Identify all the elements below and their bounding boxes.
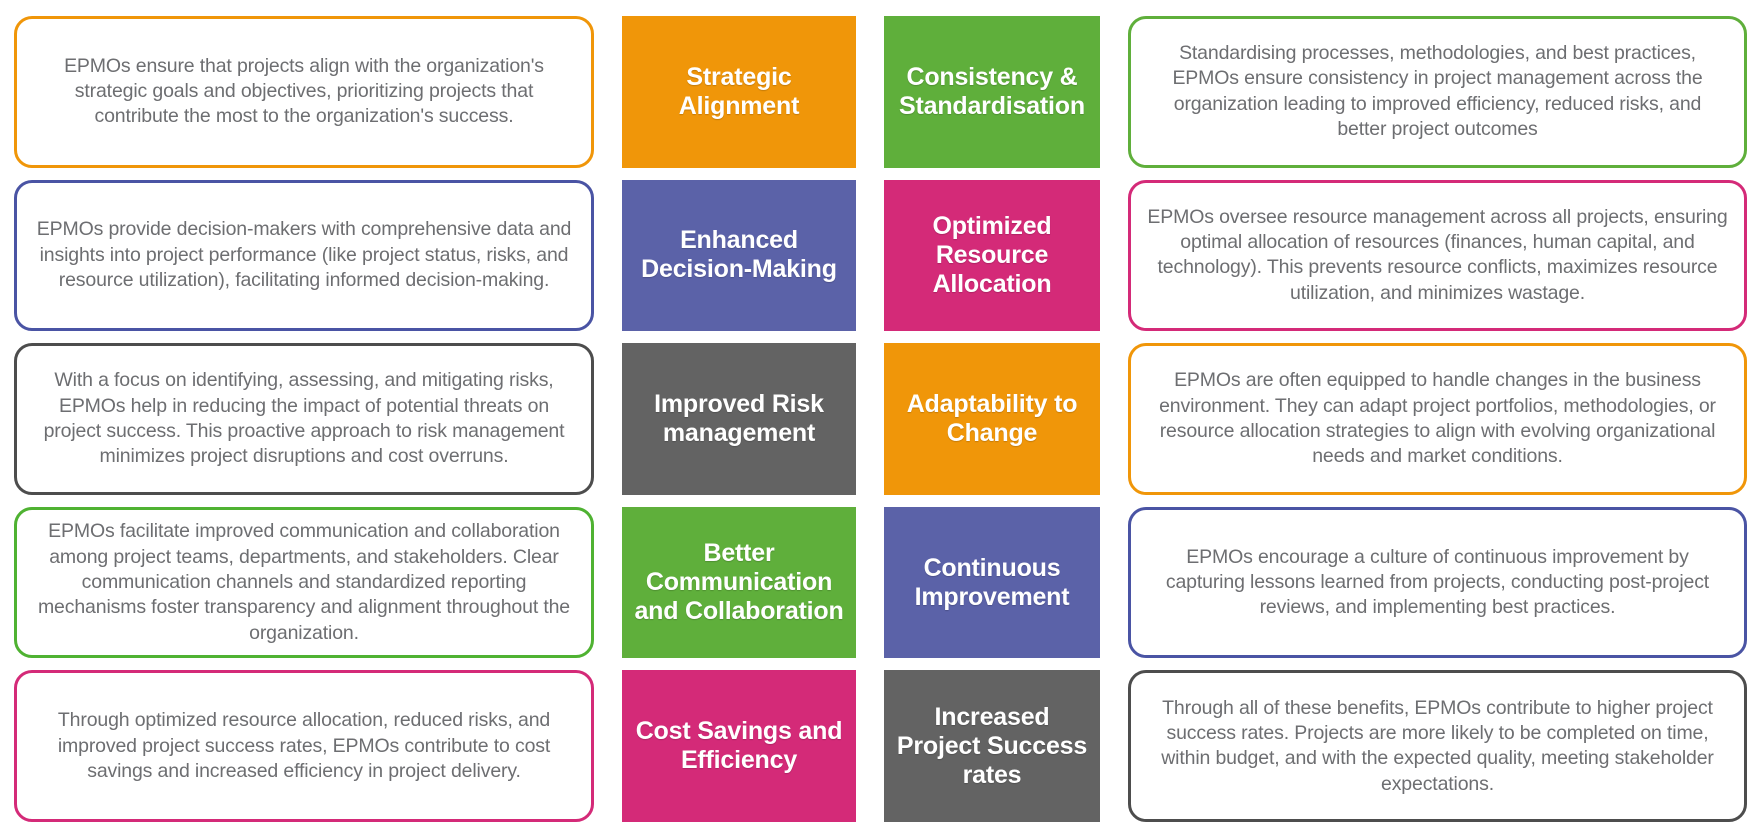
label-text: Adaptability to Change	[892, 390, 1092, 448]
description-box-left-row-2: EPMOs provide decision-makers with compr…	[14, 180, 594, 332]
label-cell-center-right-row-5: Increased Project Success rates	[870, 664, 1114, 828]
label-text: Optimized Resource Allocation	[892, 212, 1092, 299]
label-tile-improved-risk-management[interactable]: Improved Risk management	[622, 343, 856, 495]
description-text: Standardising processes, methodologies, …	[1147, 41, 1728, 142]
description-cell-right-row-2: EPMOs oversee resource management across…	[1114, 174, 1761, 338]
description-cell-right-row-3: EPMOs are often equipped to handle chang…	[1114, 337, 1761, 501]
description-cell-left-row-1: EPMOs ensure that projects align with th…	[0, 10, 608, 174]
label-cell-center-right-row-2: Optimized Resource Allocation	[870, 174, 1114, 338]
label-text: Improved Risk management	[630, 390, 848, 448]
description-box-right-row-2: EPMOs oversee resource management across…	[1128, 180, 1747, 332]
description-cell-left-row-2: EPMOs provide decision-makers with compr…	[0, 174, 608, 338]
description-box-right-row-5: Through all of these benefits, EPMOs con…	[1128, 670, 1747, 822]
description-cell-left-row-4: EPMOs facilitate improved communication …	[0, 501, 608, 665]
description-text: With a focus on identifying, assessing, …	[33, 368, 575, 469]
description-text: EPMOs oversee resource management across…	[1147, 205, 1728, 306]
description-text: Through all of these benefits, EPMOs con…	[1147, 696, 1728, 797]
label-tile-enhanced-decision-making[interactable]: Enhanced Decision-Making	[622, 180, 856, 332]
label-tile-cost-savings-efficiency[interactable]: Cost Savings and Efficiency	[622, 670, 856, 822]
description-text: EPMOs ensure that projects align with th…	[33, 54, 575, 130]
label-text: Strategic Alignment	[630, 63, 848, 121]
label-tile-adaptability-to-change[interactable]: Adaptability to Change	[884, 343, 1100, 495]
label-cell-center-left-row-3: Improved Risk management	[608, 337, 870, 501]
label-text: Better Communication and Collaboration	[630, 539, 848, 626]
label-cell-center-left-row-2: Enhanced Decision-Making	[608, 174, 870, 338]
description-cell-right-row-1: Standardising processes, methodologies, …	[1114, 10, 1761, 174]
description-cell-left-row-3: With a focus on identifying, assessing, …	[0, 337, 608, 501]
label-text: Consistency & Standardisation	[892, 63, 1092, 121]
label-text: Continuous Improvement	[892, 554, 1092, 612]
description-cell-right-row-5: Through all of these benefits, EPMOs con…	[1114, 664, 1761, 828]
label-cell-center-left-row-4: Better Communication and Collaboration	[608, 501, 870, 665]
label-text: Cost Savings and Efficiency	[630, 717, 848, 775]
label-cell-center-left-row-1: Strategic Alignment	[608, 10, 870, 174]
description-text: EPMOs are often equipped to handle chang…	[1147, 368, 1728, 469]
label-tile-continuous-improvement[interactable]: Continuous Improvement	[884, 507, 1100, 659]
label-tile-increased-project-success-rates[interactable]: Increased Project Success rates	[884, 670, 1100, 822]
description-text: EPMOs facilitate improved communication …	[33, 519, 575, 646]
label-cell-center-right-row-4: Continuous Improvement	[870, 501, 1114, 665]
label-cell-center-right-row-3: Adaptability to Change	[870, 337, 1114, 501]
description-cell-right-row-4: EPMOs encourage a culture of continuous …	[1114, 501, 1761, 665]
description-box-left-row-1: EPMOs ensure that projects align with th…	[14, 16, 594, 168]
label-tile-optimized-resource-allocation[interactable]: Optimized Resource Allocation	[884, 180, 1100, 332]
description-box-left-row-4: EPMOs facilitate improved communication …	[14, 507, 594, 659]
label-text: Increased Project Success rates	[892, 703, 1092, 790]
label-tile-strategic-alignment[interactable]: Strategic Alignment	[622, 16, 856, 168]
label-tile-consistency-standardisation[interactable]: Consistency & Standardisation	[884, 16, 1100, 168]
label-tile-better-communication-collaboration[interactable]: Better Communication and Collaboration	[622, 507, 856, 659]
description-box-left-row-3: With a focus on identifying, assessing, …	[14, 343, 594, 495]
epmo-benefits-diagram: EPMOs ensure that projects align with th…	[0, 0, 1761, 838]
description-box-right-row-4: EPMOs encourage a culture of continuous …	[1128, 507, 1747, 659]
description-box-left-row-5: Through optimized resource allocation, r…	[14, 670, 594, 822]
label-cell-center-left-row-5: Cost Savings and Efficiency	[608, 664, 870, 828]
description-box-right-row-1: Standardising processes, methodologies, …	[1128, 16, 1747, 168]
label-text: Enhanced Decision-Making	[630, 226, 848, 284]
description-text: Through optimized resource allocation, r…	[33, 708, 575, 784]
description-text: EPMOs encourage a culture of continuous …	[1147, 545, 1728, 621]
label-cell-center-right-row-1: Consistency & Standardisation	[870, 10, 1114, 174]
description-cell-left-row-5: Through optimized resource allocation, r…	[0, 664, 608, 828]
description-box-right-row-3: EPMOs are often equipped to handle chang…	[1128, 343, 1747, 495]
description-text: EPMOs provide decision-makers with compr…	[33, 217, 575, 293]
